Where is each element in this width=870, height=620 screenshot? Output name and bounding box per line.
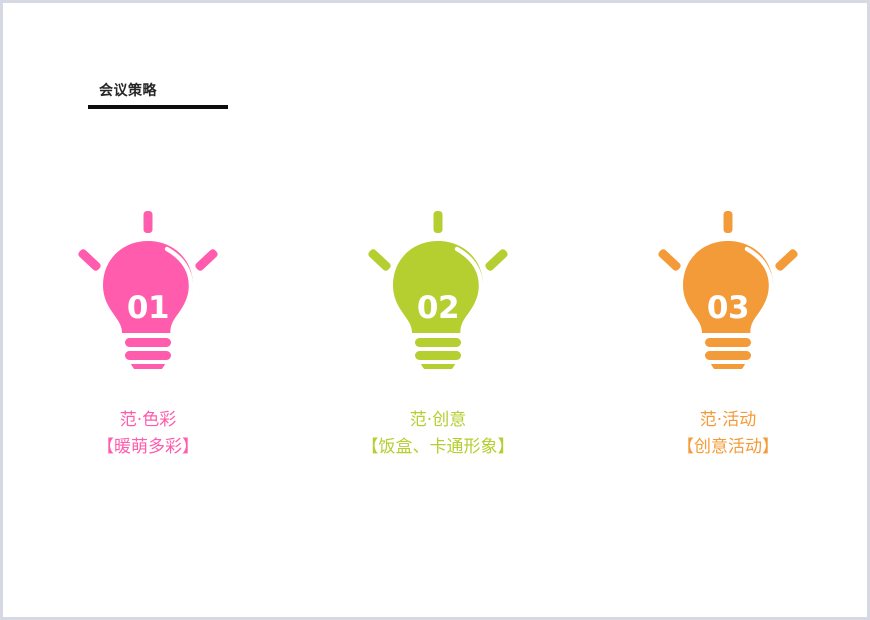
page-title-block: 会议策略	[88, 81, 230, 109]
caption-primary-2: 范·创意	[362, 407, 515, 434]
lightbulb-icon: 03	[653, 199, 803, 369]
strategy-item-2[interactable]: 02 范·创意 【饭盒、卡通形象】	[293, 199, 583, 461]
caption-3: 范·活动 【创意活动】	[677, 407, 779, 461]
lightbulb-icon: 02	[363, 199, 513, 369]
caption-primary-3: 范·活动	[677, 407, 779, 434]
caption-secondary-3: 【创意活动】	[677, 434, 779, 461]
strategy-item-3[interactable]: 03 范·活动 【创意活动】	[583, 199, 870, 461]
bulb-number-1: 01	[127, 290, 169, 326]
title-underline-rule	[88, 105, 228, 109]
bulb-number-3: 03	[707, 290, 749, 326]
strategy-columns: 01 范·色彩 【暖萌多彩】	[3, 199, 870, 461]
slide-canvas: 会议策略	[0, 0, 870, 620]
caption-secondary-2: 【饭盒、卡通形象】	[362, 434, 515, 461]
strategy-item-1[interactable]: 01 范·色彩 【暖萌多彩】	[3, 199, 293, 461]
page-title: 会议策略	[88, 81, 230, 101]
caption-2: 范·创意 【饭盒、卡通形象】	[362, 407, 515, 461]
caption-secondary-1: 【暖萌多彩】	[97, 434, 199, 461]
lightbulb-1[interactable]: 01	[73, 199, 223, 369]
lightbulb-icon: 01	[73, 199, 223, 369]
lightbulb-2[interactable]: 02	[363, 199, 513, 369]
lightbulb-3[interactable]: 03	[653, 199, 803, 369]
caption-primary-1: 范·色彩	[97, 407, 199, 434]
bulb-number-2: 02	[417, 290, 459, 326]
caption-1: 范·色彩 【暖萌多彩】	[97, 407, 199, 461]
